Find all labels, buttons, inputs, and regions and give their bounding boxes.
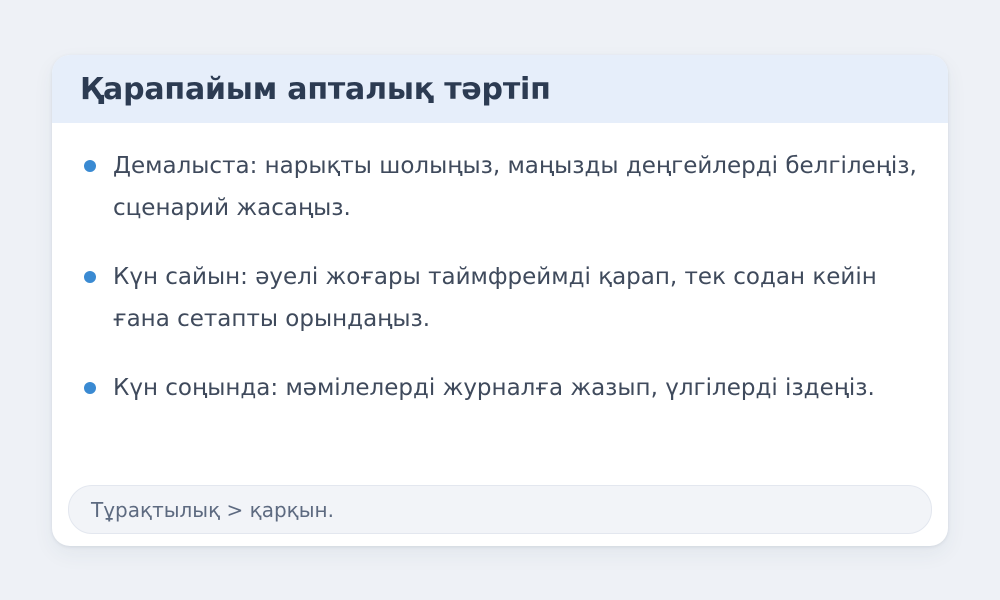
card-header: Қарапайым апталық тәртіп bbox=[52, 55, 948, 123]
page-title: Қарапайым апталық тәртіп bbox=[80, 73, 551, 106]
footer-note-text: Тұрақтылық > қарқын. bbox=[91, 498, 334, 522]
list-item-text: Күн соңында: мәмілелерді журналға жазып,… bbox=[113, 367, 920, 409]
card-footer: Тұрақтылық > қарқын. bbox=[52, 485, 948, 546]
list-item-text: Күн сайын: әуелі жоғары таймфреймді қара… bbox=[113, 256, 920, 340]
list-item: Күн сайын: әуелі жоғары таймфреймді қара… bbox=[80, 256, 920, 340]
routine-card: Қарапайым апталық тәртіп Демалыста: нары… bbox=[52, 55, 948, 546]
list-item: Күн соңында: мәмілелерді журналға жазып,… bbox=[80, 367, 920, 409]
routine-bullet-list: Демалыста: нарықты шолыңыз, маңызды деңг… bbox=[80, 145, 920, 409]
list-item-text: Демалыста: нарықты шолыңыз, маңызды деңг… bbox=[113, 145, 920, 229]
card-body: Демалыста: нарықты шолыңыз, маңызды деңг… bbox=[52, 123, 948, 409]
page-root: Қарапайым апталық тәртіп Демалыста: нары… bbox=[0, 0, 1000, 600]
list-item: Демалыста: нарықты шолыңыз, маңызды деңг… bbox=[80, 145, 920, 229]
bullet-dot-icon bbox=[84, 271, 96, 283]
footer-note-pill: Тұрақтылық > қарқын. bbox=[68, 485, 932, 534]
bullet-dot-icon bbox=[84, 382, 96, 394]
bullet-dot-icon bbox=[84, 160, 96, 172]
